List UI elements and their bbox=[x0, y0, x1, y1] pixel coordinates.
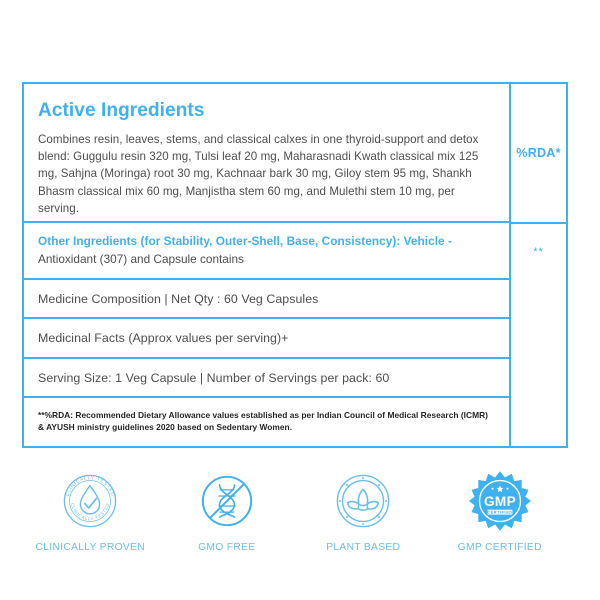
badge-gmp-certified: GMP CERTIFIED GMP CERTIFIED bbox=[432, 468, 569, 553]
lotus-seal-icon bbox=[327, 468, 399, 534]
row-rda-footnote: **%RDA: Recommended Dietary Allowance va… bbox=[24, 396, 509, 446]
rda-header-label: %RDA* bbox=[516, 146, 560, 160]
active-ingredients-body: Combines resin, leaves, stems, and class… bbox=[38, 131, 495, 217]
row-active-ingredients: Active Ingredients Combines resin, leave… bbox=[24, 84, 509, 221]
rda-other-ingredients-cell: ** bbox=[511, 222, 566, 280]
row-medicinal-facts: Medicinal Facts (Approx values per servi… bbox=[24, 317, 509, 357]
clinically-tested-seal-icon: CLINICALLY TESTED CLINICALLY TESTED bbox=[54, 468, 126, 534]
serving-size-text: Serving Size: 1 Veg Capsule | Number of … bbox=[38, 371, 495, 385]
badge-plant-based: PLANT BASED bbox=[295, 468, 432, 553]
rda-empty-cell bbox=[511, 280, 566, 446]
dna-no-entry-icon bbox=[191, 468, 263, 534]
rda-footnote-text: **%RDA: Recommended Dietary Allowance va… bbox=[38, 409, 495, 433]
other-ingredients-rest: Antioxidant (307) and Capsule contains bbox=[38, 252, 244, 266]
gmp-badge-icon: GMP CERTIFIED bbox=[464, 468, 536, 534]
supplement-facts-page: Active Ingredients Combines resin, leave… bbox=[0, 0, 600, 600]
badge-gmo-free: GMO FREE bbox=[159, 468, 296, 553]
medicine-composition-text: Medicine Composition | Net Qty : 60 Veg … bbox=[38, 292, 495, 306]
row-medicine-composition: Medicine Composition | Net Qty : 60 Veg … bbox=[24, 278, 509, 318]
facts-rda-column: %RDA* ** bbox=[511, 84, 566, 446]
rda-header-cell: %RDA* bbox=[511, 84, 566, 222]
svg-text:GMP: GMP bbox=[484, 494, 516, 509]
badge-label-clinically-proven: CLINICALLY PROVEN bbox=[36, 542, 145, 553]
badge-label-plant-based: PLANT BASED bbox=[326, 542, 400, 553]
active-ingredients-heading: Active Ingredients bbox=[38, 100, 495, 122]
certification-badges: CLINICALLY TESTED CLINICALLY TESTED CLIN… bbox=[22, 468, 568, 553]
other-ingredients-text: Other Ingredients (for Stability, Outer-… bbox=[38, 232, 495, 268]
other-ingredients-lead: Other Ingredients (for Stability, Outer-… bbox=[38, 234, 452, 248]
medicinal-facts-text: Medicinal Facts (Approx values per servi… bbox=[38, 331, 495, 345]
badge-label-gmo-free: GMO FREE bbox=[198, 542, 255, 553]
svg-text:CERTIFIED: CERTIFIED bbox=[487, 511, 512, 515]
rda-other-ingredients-value: ** bbox=[533, 247, 544, 258]
row-serving-size: Serving Size: 1 Veg Capsule | Number of … bbox=[24, 357, 509, 397]
svg-text:CLINICALLY TESTED: CLINICALLY TESTED bbox=[70, 502, 110, 521]
badge-clinically-proven: CLINICALLY TESTED CLINICALLY TESTED CLIN… bbox=[22, 468, 159, 553]
row-other-ingredients: Other Ingredients (for Stability, Outer-… bbox=[24, 221, 509, 278]
facts-main-column: Active Ingredients Combines resin, leave… bbox=[24, 84, 511, 446]
supplement-facts-table: Active Ingredients Combines resin, leave… bbox=[22, 82, 568, 448]
badge-label-gmp-certified: GMP CERTIFIED bbox=[458, 542, 542, 553]
